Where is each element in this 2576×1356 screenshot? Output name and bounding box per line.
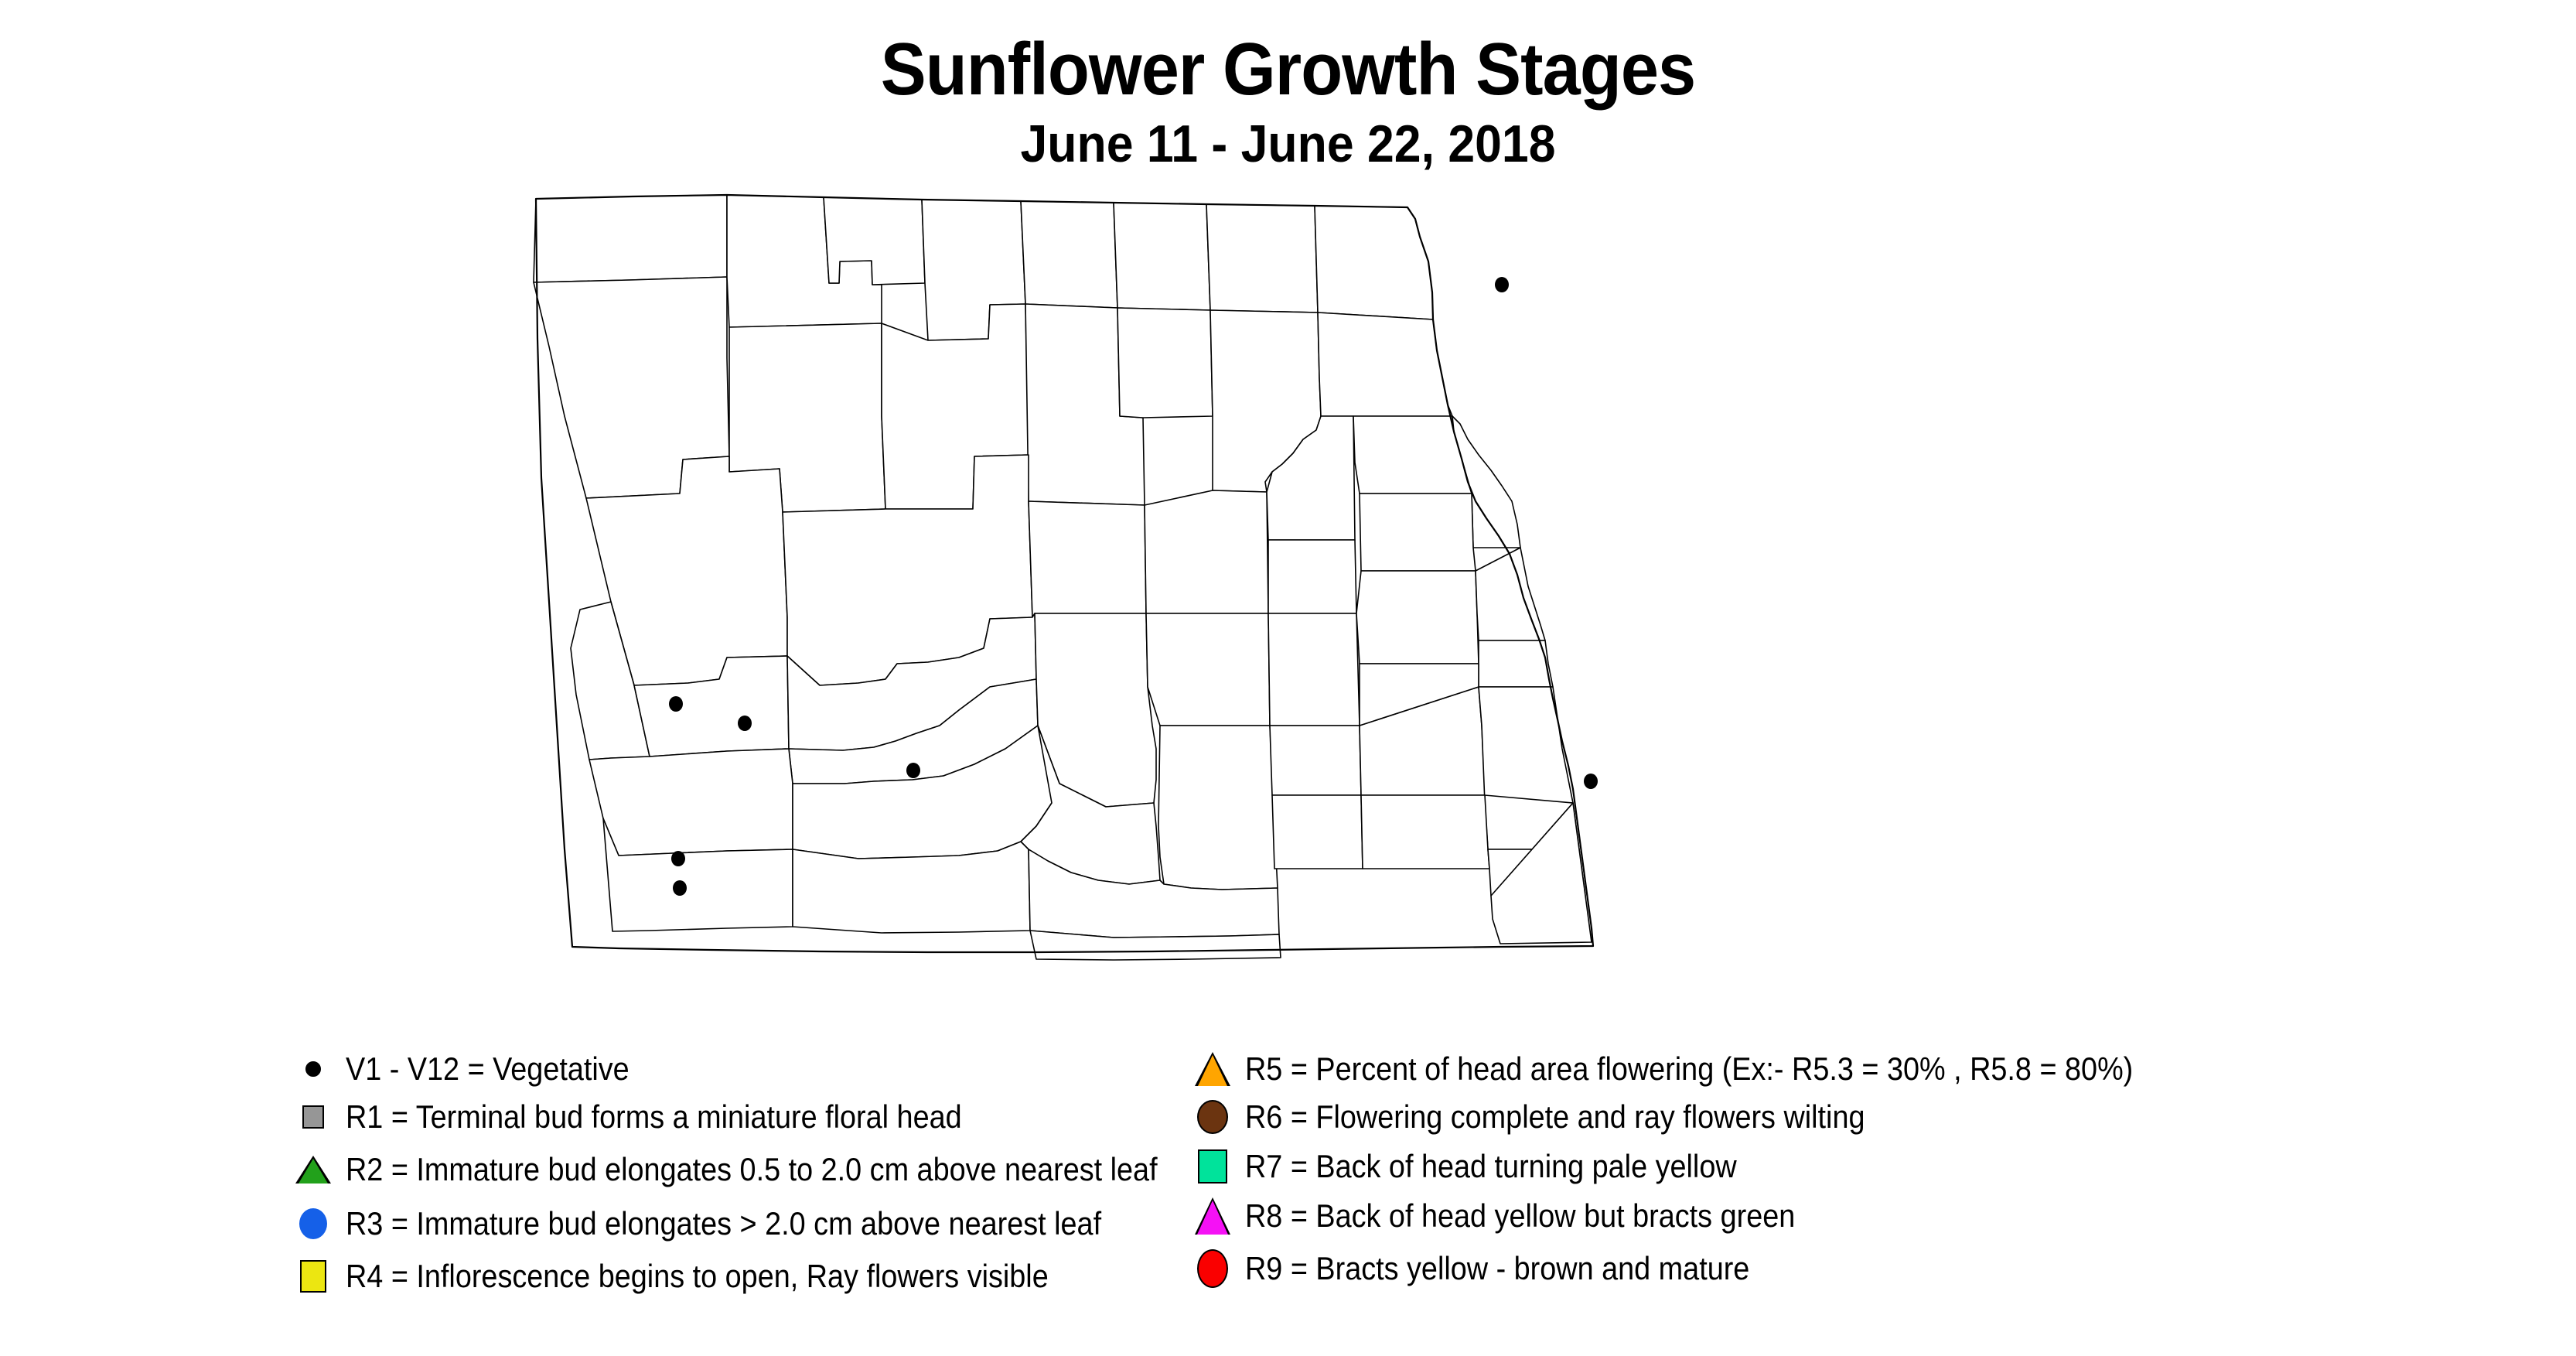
county-nelson bbox=[1360, 494, 1476, 571]
legend-label: R4 = Inflorescence begins to open, Ray f… bbox=[346, 1260, 1049, 1293]
county-wells bbox=[1145, 490, 1268, 613]
county-stutsman bbox=[1268, 613, 1360, 726]
legend-item-r2[interactable]: R2 = Immature bud elongates 0.5 to 2.0 c… bbox=[298, 1145, 1247, 1194]
county-towner bbox=[1114, 203, 1210, 310]
county-mcintosh bbox=[1272, 795, 1363, 869]
page-root: Sunflower Growth Stages June 11 - June 2… bbox=[0, 0, 2576, 1356]
map-svg bbox=[495, 184, 1856, 1004]
county-dickey bbox=[1361, 795, 1489, 869]
observation-marker bbox=[1495, 277, 1509, 292]
green-triangle-marker bbox=[298, 1153, 329, 1187]
county-walsh bbox=[1318, 313, 1452, 416]
title-block: Sunflower Growth Stages June 11 - June 2… bbox=[0, 32, 2576, 170]
yellow-square-marker bbox=[298, 1259, 329, 1293]
brown-circle-marker bbox=[1197, 1100, 1228, 1134]
legend-label: R5 = Percent of head area flowering (Ex:… bbox=[1245, 1053, 2133, 1085]
legend-item-r9[interactable]: R9 = Bracts yellow - brown and mature bbox=[1197, 1244, 1806, 1293]
magenta-triangle-marker bbox=[1197, 1199, 1228, 1233]
county-pembina bbox=[1315, 206, 1433, 319]
observation-marker bbox=[669, 696, 683, 712]
legend-label: R8 = Back of head yellow but bracts gree… bbox=[1245, 1200, 1795, 1232]
observation-marker bbox=[671, 851, 685, 866]
blue-circle-marker bbox=[298, 1207, 329, 1241]
legend-label: R2 = Immature bud elongates 0.5 to 2.0 c… bbox=[346, 1153, 1158, 1186]
legend-label: R9 = Bracts yellow - brown and mature bbox=[1245, 1252, 1749, 1285]
county-divide bbox=[534, 195, 727, 282]
legend-item-r1[interactable]: R1 = Terminal bud forms a miniature flor… bbox=[298, 1092, 1030, 1142]
county-griggs bbox=[1356, 571, 1479, 664]
orange-triangle-marker bbox=[1197, 1052, 1228, 1086]
observation-marker bbox=[906, 763, 920, 778]
county-kidder bbox=[1146, 613, 1270, 726]
legend: V1 - V12 = Vegetative R1 = Terminal bud … bbox=[0, 1044, 2576, 1354]
county-rolette bbox=[1021, 201, 1117, 308]
gray-square-marker bbox=[298, 1100, 329, 1134]
north-dakota-county-map bbox=[495, 184, 1856, 1004]
county-pierce bbox=[1117, 308, 1213, 418]
county-cass bbox=[1479, 687, 1573, 803]
legend-label: R7 = Back of head turning pale yellow bbox=[1245, 1150, 1737, 1183]
legend-item-v1-v12[interactable]: V1 - V12 = Vegetative bbox=[298, 1044, 660, 1094]
county-logan bbox=[1270, 726, 1361, 795]
legend-label: R6 = Flowering complete and ray flowers … bbox=[1245, 1101, 1865, 1133]
observation-marker bbox=[1584, 774, 1598, 789]
legend-item-r4[interactable]: R4 = Inflorescence begins to open, Ray f… bbox=[298, 1252, 1127, 1301]
county-renville bbox=[824, 197, 925, 285]
county-foster bbox=[1268, 540, 1356, 613]
legend-item-r8[interactable]: R8 = Back of head yellow but bracts gree… bbox=[1197, 1191, 1856, 1241]
county-emmons bbox=[1158, 726, 1278, 890]
legend-item-r5[interactable]: R5 = Percent of head area flowering (Ex:… bbox=[1197, 1044, 2232, 1094]
legend-label: R3 = Immature bud elongates > 2.0 cm abo… bbox=[346, 1207, 1101, 1240]
page-subtitle: June 11 - June 22, 2018 bbox=[103, 118, 2473, 170]
legend-item-r3[interactable]: R3 = Immature bud elongates > 2.0 cm abo… bbox=[298, 1199, 1186, 1248]
county-sheridan bbox=[1029, 501, 1146, 617]
legend-label: R1 = Terminal bud forms a miniature flor… bbox=[346, 1101, 962, 1133]
red-circle-marker bbox=[1197, 1252, 1228, 1286]
legend-item-r6[interactable]: R6 = Flowering complete and ray flowers … bbox=[1197, 1092, 1934, 1142]
black-circle-marker bbox=[298, 1052, 329, 1086]
page-title: Sunflower Growth Stages bbox=[103, 32, 2473, 107]
county-slope bbox=[589, 749, 793, 856]
observation-marker bbox=[673, 880, 687, 896]
legend-item-r7[interactable]: R7 = Back of head turning pale yellow bbox=[1197, 1142, 1791, 1191]
springgreen-square-marker bbox=[1197, 1149, 1228, 1184]
legend-label: V1 - V12 = Vegetative bbox=[346, 1053, 629, 1085]
county-cavalier bbox=[1206, 204, 1318, 313]
observation-marker bbox=[738, 716, 752, 731]
